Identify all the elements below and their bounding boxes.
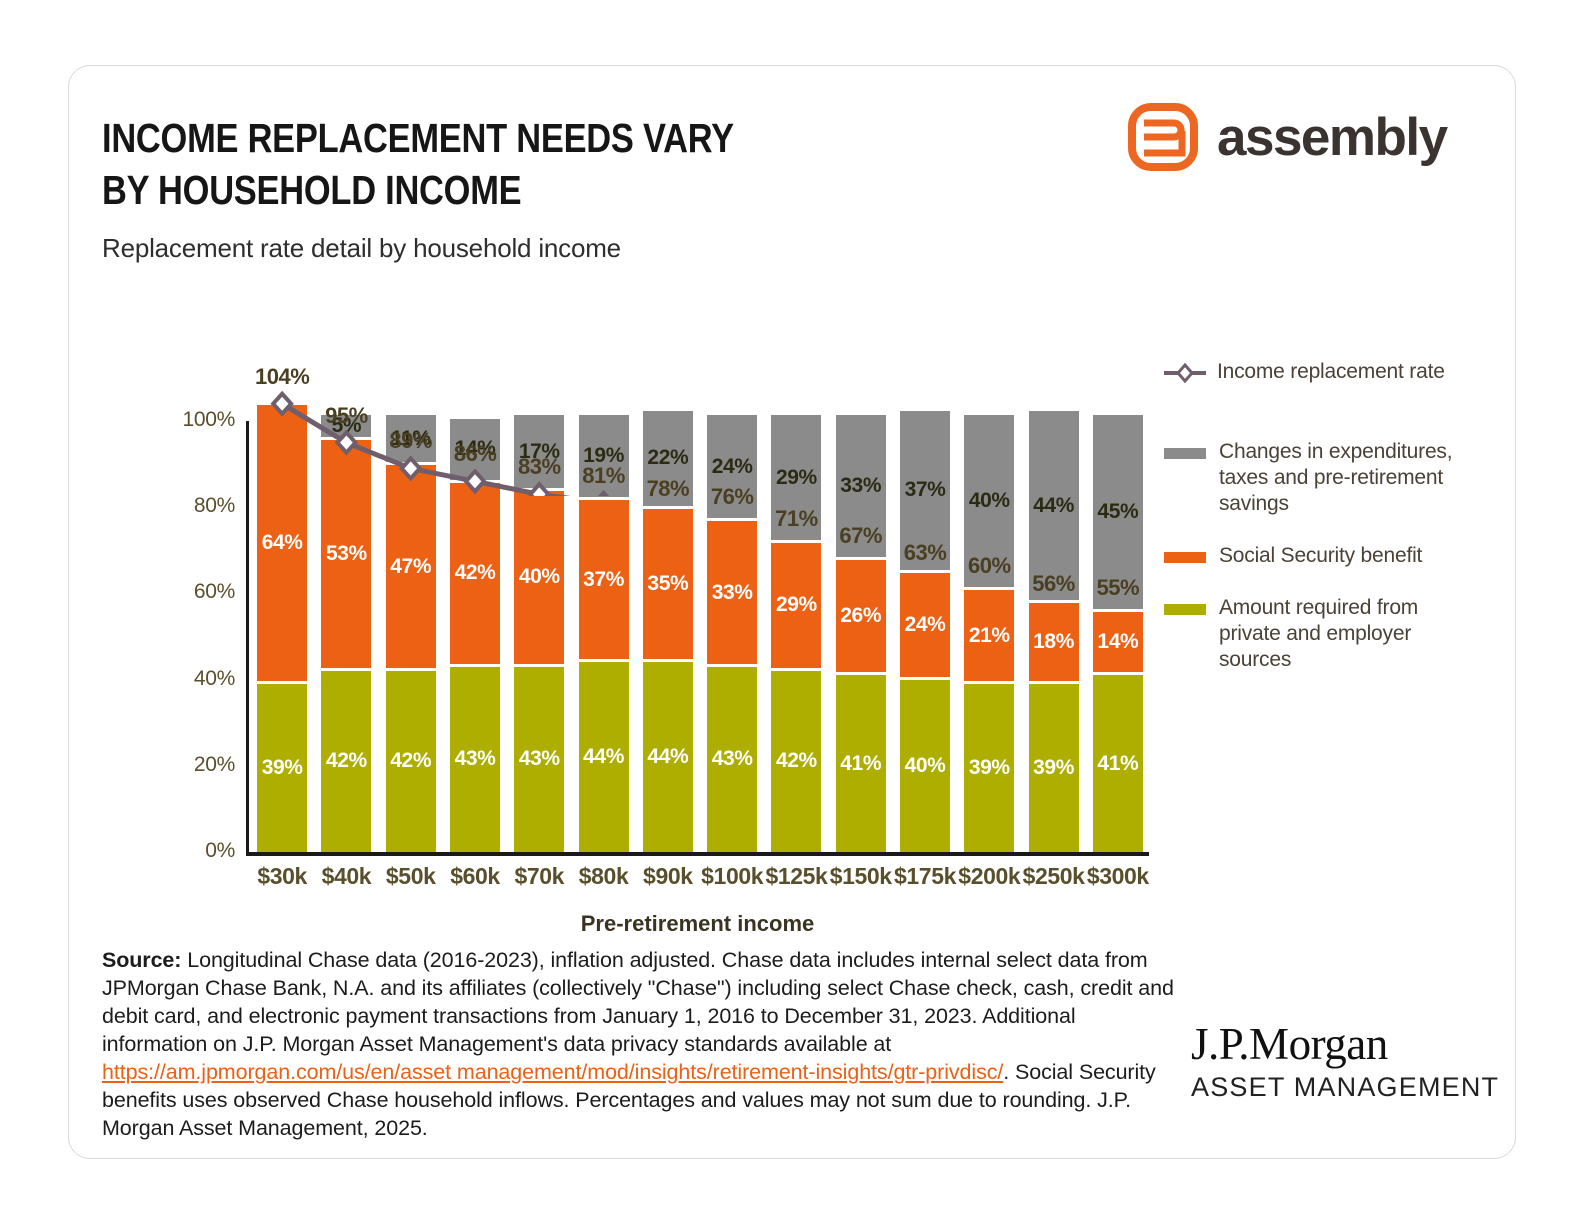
y-axis-line bbox=[246, 421, 249, 853]
bar-segment-olive[interactable]: 43% bbox=[707, 667, 757, 852]
line-data-label: 71% bbox=[761, 506, 831, 532]
bar-segment-olive[interactable]: 41% bbox=[836, 675, 886, 852]
olive-swatch-icon bbox=[1164, 604, 1206, 615]
bar-segment-olive[interactable]: 42% bbox=[386, 671, 436, 852]
jpmorgan-name: J.P.Morgan bbox=[1191, 1021, 1499, 1068]
bar-segment-orange[interactable]: 29% bbox=[771, 543, 821, 668]
line-diamond-icon bbox=[1164, 362, 1206, 384]
bar-segment-label: 53% bbox=[321, 542, 371, 566]
bar-segment-olive[interactable]: 44% bbox=[643, 662, 693, 852]
bar-segment-olive[interactable]: 39% bbox=[964, 684, 1014, 852]
line-data-label: 63% bbox=[890, 540, 960, 566]
bar-segment-label: 41% bbox=[836, 752, 886, 776]
bar-segment-orange[interactable]: 21% bbox=[964, 590, 1014, 681]
bar-segment-label: 43% bbox=[450, 747, 500, 771]
bar-segment-olive[interactable]: 42% bbox=[321, 671, 371, 852]
bar-segment-label: 21% bbox=[964, 624, 1014, 648]
x-axis-title: Pre-retirement income bbox=[246, 911, 1149, 937]
bar-segment-label: 44% bbox=[1029, 494, 1079, 518]
bar-segment-label: 24% bbox=[900, 613, 950, 637]
x-axis-line bbox=[246, 852, 1149, 856]
legend-item-changes-expenditures[interactable]: Changes in expenditures, taxes and pre-r… bbox=[1164, 439, 1474, 517]
legend-label: Social Security benefit bbox=[1219, 543, 1422, 569]
bar-segment-olive[interactable]: 39% bbox=[1029, 684, 1079, 852]
y-axis-tick: 40% bbox=[165, 667, 235, 691]
bar-segment-label: 40% bbox=[900, 754, 950, 778]
bar-segment-olive[interactable]: 39% bbox=[257, 684, 307, 852]
line-data-label: 67% bbox=[826, 523, 896, 549]
bar-segment-olive[interactable]: 42% bbox=[771, 671, 821, 852]
y-axis-tick: 20% bbox=[165, 753, 235, 777]
bar-segment-label: 14% bbox=[1093, 630, 1143, 654]
line-data-label: 81% bbox=[569, 463, 639, 489]
source-text-part1: Longitudinal Chase data (2016-2023), inf… bbox=[102, 948, 1174, 1056]
bar-segment-label: 41% bbox=[1093, 752, 1143, 776]
bar-segment-olive[interactable]: 44% bbox=[579, 662, 629, 852]
line-data-label: 76% bbox=[697, 484, 767, 510]
bar-segment-label: 42% bbox=[386, 749, 436, 773]
line-data-label: 83% bbox=[504, 454, 574, 480]
bar-segment-orange[interactable]: 24% bbox=[900, 573, 950, 676]
gray-swatch-icon bbox=[1164, 448, 1206, 459]
bar-segment-label: 33% bbox=[707, 581, 757, 605]
bar-segment-olive[interactable]: 41% bbox=[1093, 675, 1143, 852]
bar-segment-orange[interactable]: 35% bbox=[643, 509, 693, 660]
bar-segment-label: 64% bbox=[257, 531, 307, 555]
bar-segment-orange[interactable]: 37% bbox=[579, 500, 629, 659]
jpmorgan-logo: J.P.Morgan ASSET MANAGEMENT bbox=[1191, 1021, 1499, 1103]
bar-segment-olive[interactable]: 43% bbox=[450, 667, 500, 852]
chart-card: INCOME REPLACEMENT NEEDS VARY BY HOUSEHO… bbox=[68, 65, 1516, 1159]
y-axis-tick: 100% bbox=[165, 408, 235, 432]
income-replacement-line bbox=[250, 316, 1160, 496]
bar-segment-label: 40% bbox=[514, 565, 564, 589]
bar-segment-label: 43% bbox=[514, 747, 564, 771]
y-axis-tick: 0% bbox=[165, 839, 235, 863]
bar-segment-label: 42% bbox=[450, 561, 500, 585]
bar-segment-label: 44% bbox=[643, 745, 693, 769]
y-axis-tick: 80% bbox=[165, 494, 235, 518]
bar-segment-orange[interactable]: 18% bbox=[1029, 603, 1079, 681]
line-data-label: 89% bbox=[376, 428, 446, 454]
line-data-label: 86% bbox=[440, 441, 510, 467]
line-data-label: 78% bbox=[633, 476, 703, 502]
bar-segment-label: 26% bbox=[836, 604, 886, 628]
bar-segment-label: 39% bbox=[257, 756, 307, 780]
y-axis-tick: 60% bbox=[165, 580, 235, 604]
chart-legend: Income replacement rate Changes in expen… bbox=[1164, 359, 1474, 699]
bar-segment-olive[interactable]: 43% bbox=[514, 667, 564, 852]
legend-label: Amount required from private and employe… bbox=[1219, 595, 1474, 673]
bar-segment-label: 44% bbox=[579, 745, 629, 769]
bar-segment-olive[interactable]: 40% bbox=[900, 680, 950, 852]
line-data-label: 56% bbox=[1019, 571, 1089, 597]
source-note: Source: Longitudinal Chase data (2016-20… bbox=[102, 946, 1182, 1142]
x-axis-tick: $300k bbox=[1075, 863, 1161, 890]
legend-item-private-employer[interactable]: Amount required from private and employe… bbox=[1164, 595, 1474, 673]
line-data-label: 95% bbox=[311, 403, 381, 429]
privacy-disclosure-link[interactable]: https://am.jpmorgan.com/us/en/asset mana… bbox=[102, 1060, 1003, 1084]
bar-segment-label: 47% bbox=[386, 555, 436, 579]
bar-segment-label: 42% bbox=[771, 749, 821, 773]
bar-segment-orange[interactable]: 14% bbox=[1093, 612, 1143, 672]
bar-segment-label: 39% bbox=[964, 756, 1014, 780]
bar-segment-label: 29% bbox=[771, 593, 821, 617]
legend-item-social-security[interactable]: Social Security benefit bbox=[1164, 543, 1474, 569]
bar-segment-orange[interactable]: 42% bbox=[450, 483, 500, 664]
line-data-label: 104% bbox=[247, 364, 317, 390]
legend-item-income-replacement-rate[interactable]: Income replacement rate bbox=[1164, 359, 1474, 385]
bar-segment-orange[interactable]: 40% bbox=[514, 491, 564, 663]
line-data-label: 60% bbox=[954, 553, 1024, 579]
jpmorgan-division: ASSET MANAGEMENT bbox=[1191, 1072, 1499, 1103]
source-label: Source: bbox=[102, 948, 181, 972]
bar-segment-orange[interactable]: 33% bbox=[707, 521, 757, 663]
bar-segment-label: 45% bbox=[1093, 500, 1143, 524]
bar-segment-label: 18% bbox=[1029, 630, 1079, 654]
legend-label: Changes in expenditures, taxes and pre-r… bbox=[1219, 439, 1474, 517]
bar-segment-label: 39% bbox=[1029, 756, 1079, 780]
orange-swatch-icon bbox=[1164, 552, 1206, 563]
legend-label: Income replacement rate bbox=[1217, 359, 1445, 385]
line-data-label: 55% bbox=[1083, 575, 1153, 601]
bar-segment-label: 43% bbox=[707, 747, 757, 771]
bar-segment-label: 35% bbox=[643, 572, 693, 596]
bar-segment-label: 42% bbox=[321, 749, 371, 773]
bar-segment-orange[interactable]: 26% bbox=[836, 560, 886, 672]
bar-segment-label: 37% bbox=[579, 568, 629, 592]
